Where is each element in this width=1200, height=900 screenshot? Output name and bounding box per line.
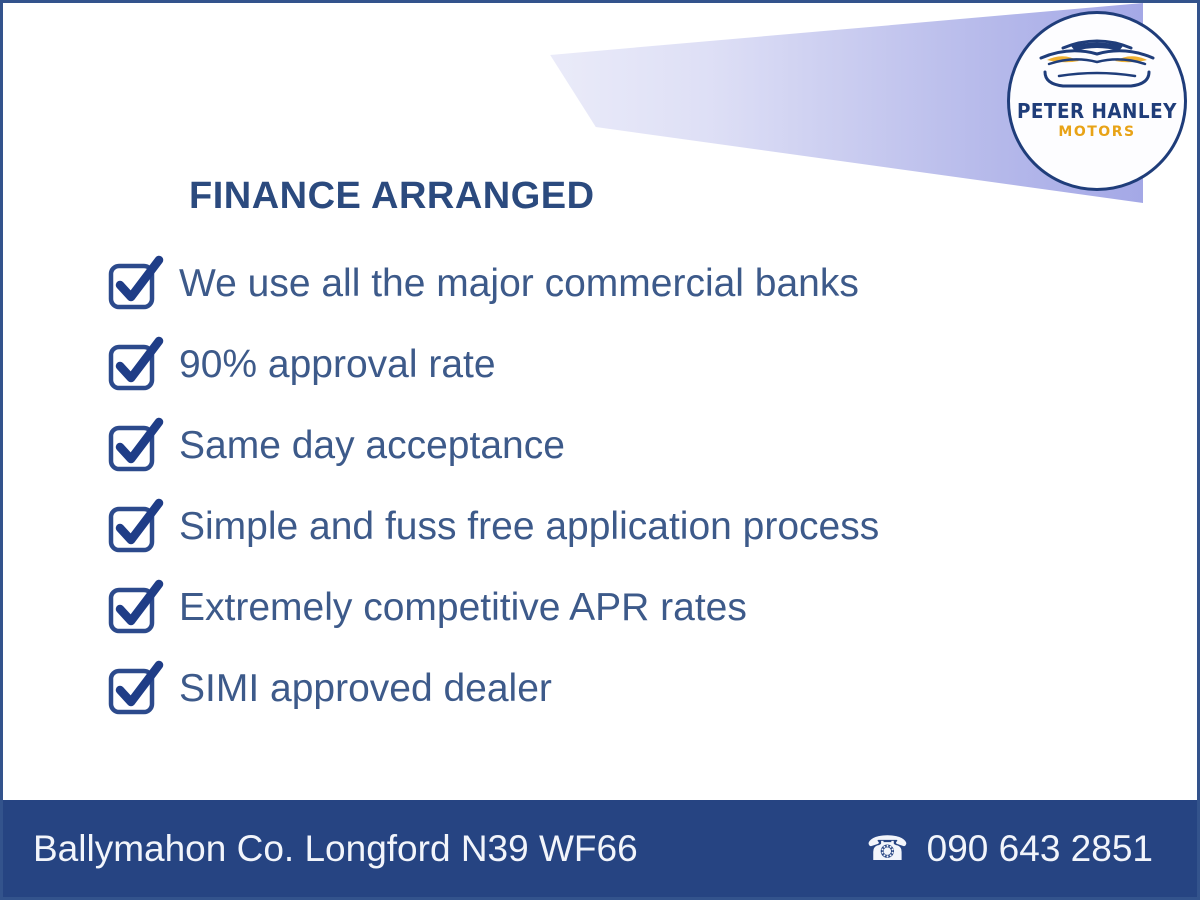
list-item: 90% approval rate	[107, 324, 1107, 405]
checkbox-checked-icon	[107, 417, 165, 475]
list-item: Same day acceptance	[107, 405, 1107, 486]
contact-footer-bar: Ballymahon Co. Longford N39 WF66 ☎ 090 6…	[3, 800, 1197, 897]
decorative-light-ray	[3, 3, 1143, 203]
checkbox-checked-icon	[107, 660, 165, 718]
finance-poster: PETER HANLEY MOTORS FINANCE ARRANGED We …	[0, 0, 1200, 900]
footer-address: Ballymahon Co. Longford N39 WF66	[33, 828, 638, 870]
list-item-label: SIMI approved dealer	[179, 669, 552, 708]
list-item-label: 90% approval rate	[179, 345, 496, 384]
list-item: SIMI approved dealer	[107, 648, 1107, 729]
checkbox-checked-icon	[107, 255, 165, 313]
list-item-label: Simple and fuss free application process	[179, 507, 879, 546]
checkbox-checked-icon	[107, 336, 165, 394]
list-item-label: We use all the major commercial banks	[179, 264, 859, 303]
car-front-icon	[1033, 30, 1161, 97]
feature-list: We use all the major commercial banks 90…	[107, 243, 1107, 729]
logo-subtitle: MOTORS	[1058, 124, 1135, 140]
telephone-icon: ☎	[866, 832, 908, 866]
list-item: Simple and fuss free application process	[107, 486, 1107, 567]
footer-phone-group[interactable]: ☎ 090 643 2851	[866, 828, 1153, 870]
checkbox-checked-icon	[107, 579, 165, 637]
list-item: We use all the major commercial banks	[107, 243, 1107, 324]
list-item-label: Extremely competitive APR rates	[179, 588, 747, 627]
logo-name: PETER HANLEY	[1017, 99, 1177, 123]
dealer-logo-badge: PETER HANLEY MOTORS	[1007, 11, 1187, 191]
list-item-label: Same day acceptance	[179, 426, 565, 465]
footer-phone-number: 090 643 2851	[927, 828, 1153, 870]
list-item: Extremely competitive APR rates	[107, 567, 1107, 648]
page-title: FINANCE ARRANGED	[189, 175, 595, 218]
checkbox-checked-icon	[107, 498, 165, 556]
